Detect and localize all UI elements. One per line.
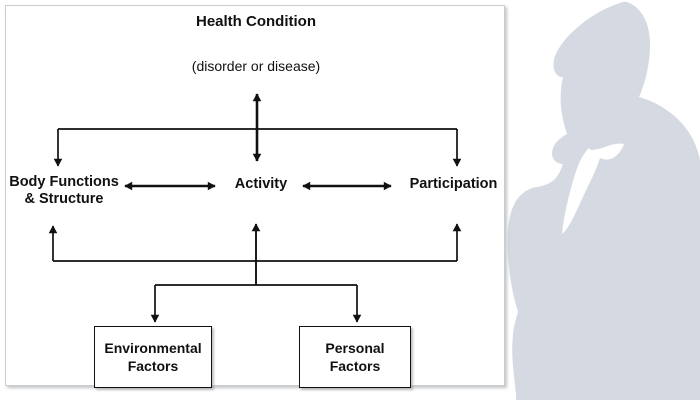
label-body-functions: Body Functions & Structure [4, 174, 124, 207]
box-environmental-factors: Environmental Factors [94, 326, 212, 388]
person-thinking-silhouette-icon [505, 0, 700, 400]
box-personal-factors-line1: Personal [325, 340, 384, 356]
page-title: Health Condition [6, 13, 506, 30]
figure-canvas: Health Condition (disorder or disease) B… [0, 0, 700, 400]
icf-model-panel: Health Condition (disorder or disease) B… [5, 5, 505, 386]
box-environmental-factors-line2: Factors [128, 358, 179, 374]
label-body-functions-line2: & Structure [25, 191, 104, 207]
label-body-functions-line1: Body Functions [9, 174, 119, 190]
box-environmental-factors-text: Environmental Factors [104, 339, 201, 375]
arrows-factors-to-domains [53, 224, 457, 285]
label-activity: Activity [201, 176, 321, 193]
box-personal-factors-line2: Factors [330, 358, 381, 374]
page-subtitle: (disorder or disease) [6, 58, 506, 74]
arrows-to-factor-boxes [155, 285, 357, 322]
box-personal-factors-text: Personal Factors [325, 339, 384, 375]
box-personal-factors: Personal Factors [299, 326, 411, 388]
label-participation: Participation [396, 176, 511, 193]
box-environmental-factors-line1: Environmental [104, 340, 201, 356]
